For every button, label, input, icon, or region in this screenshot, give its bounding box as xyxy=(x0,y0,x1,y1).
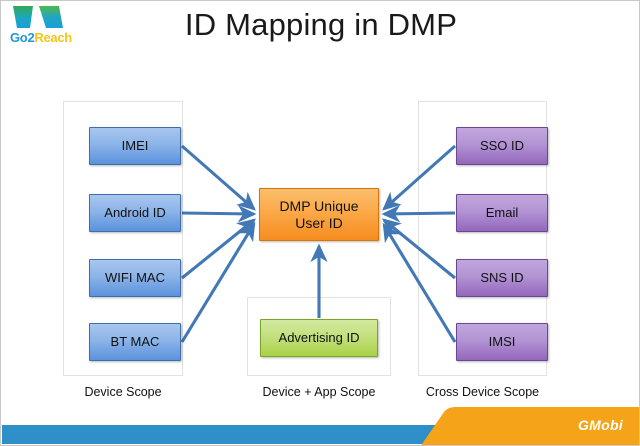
node-sso-id[interactable]: SSO ID xyxy=(456,127,548,165)
page-title: ID Mapping in DMP xyxy=(1,7,640,43)
connector-imei xyxy=(182,146,254,209)
node-dmp-text: DMP Unique User ID xyxy=(279,198,358,230)
footer-brand-gmobi: GMobi xyxy=(578,417,623,433)
scope-label-device-app: Device + App Scope xyxy=(240,385,398,399)
node-imsi[interactable]: IMSI xyxy=(456,323,548,361)
slide-canvas: Go2Reach ID Mapping in DMP IMEI A xyxy=(0,0,640,446)
node-advertising-id[interactable]: Advertising ID xyxy=(260,319,378,357)
node-email[interactable]: Email xyxy=(456,194,548,232)
node-wifi-mac[interactable]: WIFI MAC xyxy=(89,259,181,297)
footer-blue-bar xyxy=(2,425,640,444)
scope-label-cross-device: Cross Device Scope xyxy=(411,385,554,399)
node-android-id[interactable]: Android ID xyxy=(89,194,181,232)
connector-bt-mac xyxy=(182,224,254,342)
node-bt-mac[interactable]: BT MAC xyxy=(89,323,181,361)
node-dmp-line1: DMP Unique xyxy=(279,198,358,214)
connector-wifi-mac xyxy=(182,220,254,278)
node-imei[interactable]: IMEI xyxy=(89,127,181,165)
scope-label-device: Device Scope xyxy=(63,385,183,399)
node-dmp-line2: User ID xyxy=(295,215,342,231)
node-dmp-unique-user-id[interactable]: DMP Unique User ID xyxy=(259,188,379,241)
connector-android-id xyxy=(182,213,254,214)
node-sns-id[interactable]: SNS ID xyxy=(456,259,548,297)
